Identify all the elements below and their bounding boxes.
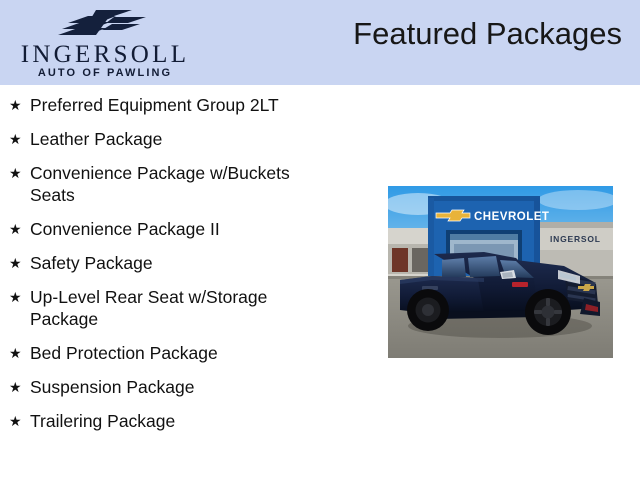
featured-packages-list: ★ Preferred Equipment Group 2LT ★ Leathe… bbox=[0, 85, 360, 432]
list-item: ★ Convenience Package w/Buckets Seats bbox=[0, 162, 360, 206]
vehicle-photo: INGERSOL CHEVROLET bbox=[388, 186, 613, 358]
page-title: Featured Packages bbox=[353, 14, 622, 54]
list-item-label: Convenience Package II bbox=[30, 218, 312, 240]
list-item: ★ Convenience Package II bbox=[0, 218, 360, 240]
list-item-label: Trailering Package bbox=[30, 410, 312, 432]
list-item: ★ Up-Level Rear Seat w/Storage Package bbox=[0, 286, 360, 330]
svg-text:INGERSOL: INGERSOL bbox=[550, 234, 601, 244]
star-bullet-icon: ★ bbox=[9, 286, 30, 308]
list-item: ★ Bed Protection Package bbox=[0, 342, 360, 364]
star-bullet-icon: ★ bbox=[9, 252, 30, 274]
featured-packages-page: INGERSOLL AUTO OF PAWLING Featured Packa… bbox=[0, 0, 640, 480]
star-bullet-icon: ★ bbox=[9, 410, 30, 432]
star-bullet-icon: ★ bbox=[9, 218, 30, 240]
star-bullet-icon: ★ bbox=[9, 342, 30, 364]
ingersoll-wing-logo-icon bbox=[56, 6, 156, 38]
page-header: INGERSOLL AUTO OF PAWLING Featured Packa… bbox=[0, 0, 640, 85]
list-item: ★ Suspension Package bbox=[0, 376, 360, 398]
list-item-label: Suspension Package bbox=[30, 376, 312, 398]
list-item: ★ Safety Package bbox=[0, 252, 360, 274]
list-item: ★ Preferred Equipment Group 2LT bbox=[0, 94, 360, 116]
svg-text:CHEVROLET: CHEVROLET bbox=[474, 211, 549, 223]
list-item-label: Preferred Equipment Group 2LT bbox=[30, 94, 312, 116]
list-item-label: Safety Package bbox=[30, 252, 312, 274]
star-bullet-icon: ★ bbox=[9, 128, 30, 150]
list-item: ★ Leather Package bbox=[0, 128, 360, 150]
star-bullet-icon: ★ bbox=[9, 94, 30, 116]
star-bullet-icon: ★ bbox=[9, 162, 30, 184]
list-item: ★ Trailering Package bbox=[0, 410, 360, 432]
brand-name: INGERSOLL bbox=[7, 42, 203, 67]
list-item-label: Convenience Package w/Buckets Seats bbox=[30, 162, 312, 206]
star-bullet-icon: ★ bbox=[9, 376, 30, 398]
list-item-label: Up-Level Rear Seat w/Storage Package bbox=[30, 286, 312, 330]
list-item-label: Leather Package bbox=[30, 128, 312, 150]
list-item-label: Bed Protection Package bbox=[30, 342, 312, 364]
brand-tagline: AUTO OF PAWLING bbox=[7, 68, 203, 79]
dealer-branding: INGERSOLL AUTO OF PAWLING bbox=[0, 0, 210, 85]
